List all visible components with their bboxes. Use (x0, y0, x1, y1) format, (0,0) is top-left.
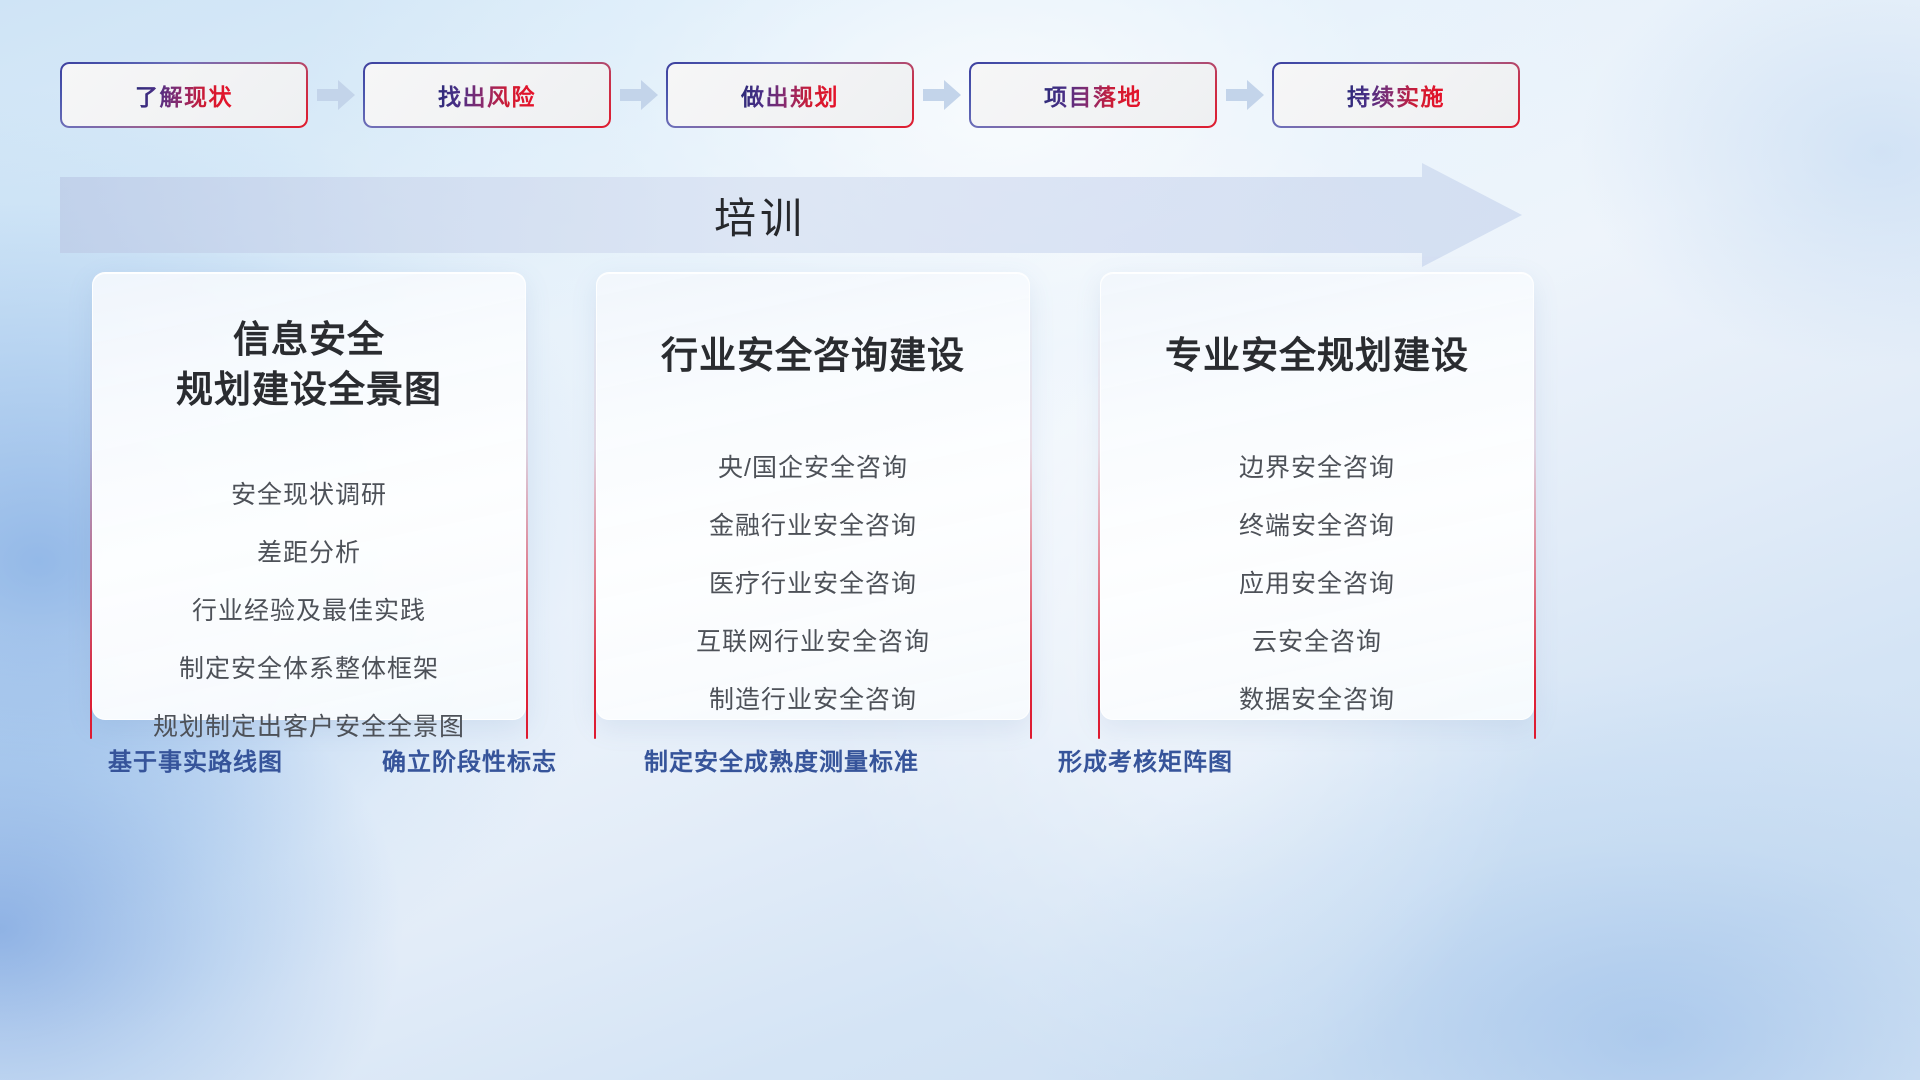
card-title-line-1: 行业安全咨询建设 (661, 331, 965, 381)
caption-roadmap: 基于事实路线图 (108, 742, 283, 777)
arrow-right-icon (611, 62, 666, 128)
training-banner: 培训 (60, 163, 1522, 267)
step-label-4: 项目落地 (1044, 78, 1142, 112)
caption-milestone: 确立阶段性标志 (382, 742, 557, 777)
list-item: 制造行业安全咨询 (709, 675, 917, 725)
step-box-5[interactable]: 持续实施 (1272, 62, 1520, 128)
card-row: 信息安全 规划建设全景图 安全现状调研 差距分析 行业经验及最佳实践 制定安全体… (92, 272, 1534, 720)
step-label-2: 找出风险 (438, 78, 536, 112)
step-box-3[interactable]: 做出规划 (666, 62, 914, 128)
card-industry-security-consulting[interactable]: 行业安全咨询建设 央/国企安全咨询 金融行业安全咨询 医疗行业安全咨询 互联网行… (596, 272, 1030, 720)
card-item-list: 边界安全咨询 终端安全咨询 应用安全咨询 云安全咨询 数据安全咨询 (1101, 443, 1533, 725)
step-label-5: 持续实施 (1347, 78, 1445, 112)
list-item: 差距分析 (257, 528, 361, 578)
step-label-3: 做出规划 (741, 78, 839, 112)
step-box-4[interactable]: 项目落地 (969, 62, 1217, 128)
list-item: 云安全咨询 (1252, 617, 1382, 667)
step-box-1[interactable]: 了解现状 (60, 62, 308, 128)
caption-maturity: 制定安全成熟度测量标准 (644, 742, 919, 777)
card-title-line-1: 专业安全规划建设 (1165, 331, 1469, 381)
list-item: 行业经验及最佳实践 (192, 586, 426, 636)
list-item: 互联网行业安全咨询 (696, 617, 930, 667)
card-title-line-2: 规划建设全景图 (176, 365, 442, 415)
banner-title: 培训 (60, 163, 1460, 267)
card-professional-security-planning[interactable]: 专业安全规划建设 边界安全咨询 终端安全咨询 应用安全咨询 云安全咨询 数据安全… (1100, 272, 1534, 720)
caption-row: 基于事实路线图 确立阶段性标志 制定安全成熟度测量标准 形成考核矩阵图 (0, 742, 1920, 788)
list-item: 数据安全咨询 (1239, 675, 1395, 725)
process-step-row: 了解现状 找出风险 做出规划 项目落地 持续实施 (60, 62, 1520, 128)
list-item: 安全现状调研 (231, 470, 387, 520)
card-information-security[interactable]: 信息安全 规划建设全景图 安全现状调研 差距分析 行业经验及最佳实践 制定安全体… (92, 272, 526, 720)
step-label-1: 了解现状 (135, 78, 233, 112)
step-box-2[interactable]: 找出风险 (363, 62, 611, 128)
list-item: 边界安全咨询 (1239, 443, 1395, 493)
arrow-right-icon (1217, 62, 1272, 128)
list-item: 央/国企安全咨询 (718, 443, 908, 493)
arrow-right-icon (308, 62, 363, 128)
list-item: 终端安全咨询 (1239, 501, 1395, 551)
caption-matrix: 形成考核矩阵图 (1058, 742, 1233, 777)
card-title: 信息安全 规划建设全景图 (160, 315, 458, 414)
list-item: 应用安全咨询 (1239, 559, 1395, 609)
card-title: 行业安全咨询建设 (645, 331, 981, 381)
list-item: 制定安全体系整体框架 (179, 644, 439, 694)
list-item: 医疗行业安全咨询 (709, 559, 917, 609)
arrow-right-icon (914, 62, 969, 128)
card-title-line-1: 信息安全 (176, 315, 442, 365)
card-item-list: 安全现状调研 差距分析 行业经验及最佳实践 制定安全体系整体框架 规划制定出客户… (93, 470, 525, 752)
list-item: 金融行业安全咨询 (709, 501, 917, 551)
card-item-list: 央/国企安全咨询 金融行业安全咨询 医疗行业安全咨询 互联网行业安全咨询 制造行… (597, 443, 1029, 725)
card-title: 专业安全规划建设 (1149, 331, 1485, 381)
